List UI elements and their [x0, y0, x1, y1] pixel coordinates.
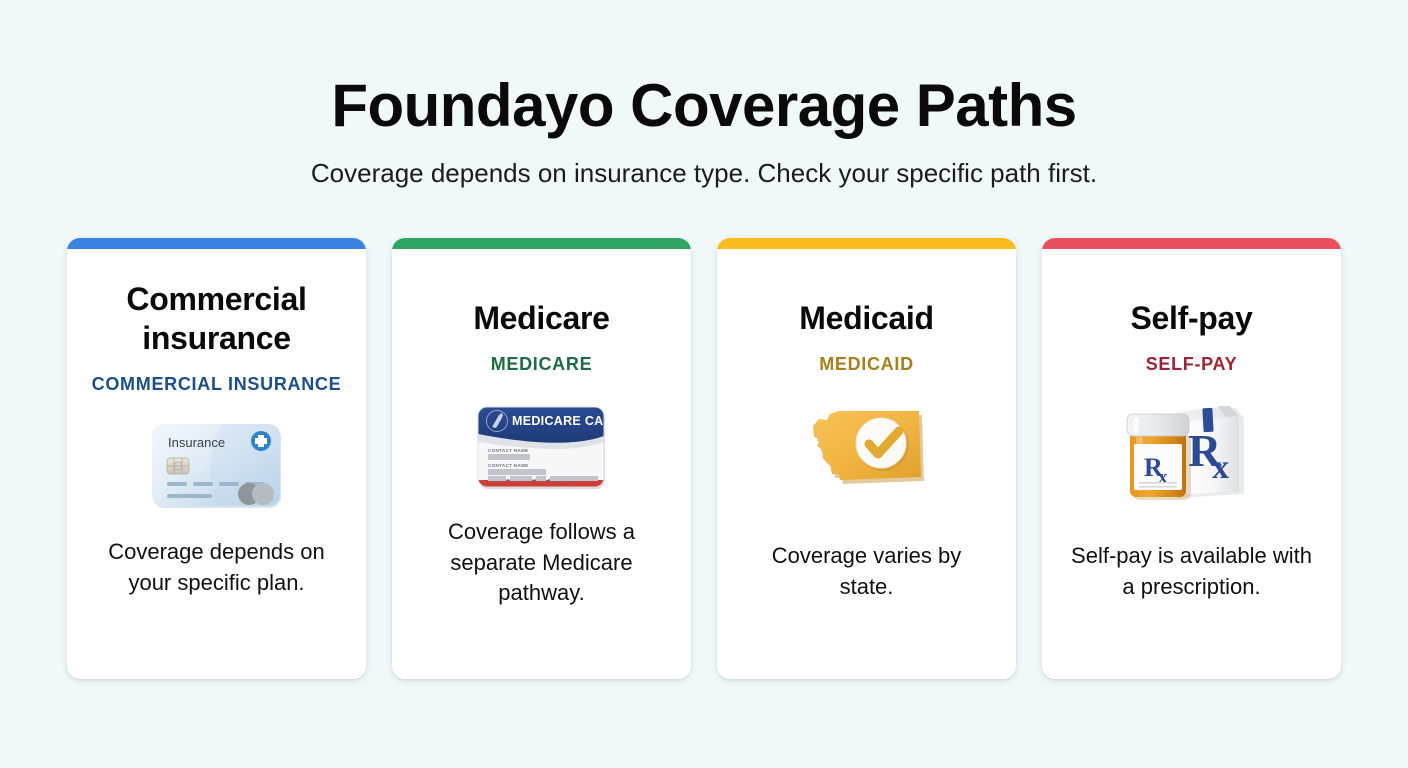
svg-text:CONTACT NAME: CONTACT NAME [488, 448, 529, 453]
card-eyebrow-label: MEDICARE [491, 354, 593, 375]
card-eyebrow-label: MEDICAID [819, 354, 914, 375]
card-body: Medicare MEDICARE [392, 238, 691, 679]
coverage-card-grid: Commercial insurance COMMERCIAL INSURANC… [67, 238, 1341, 679]
coverage-card-medicaid[interactable]: Medicaid MEDICAID [717, 238, 1016, 679]
svg-text:Insurance: Insurance [168, 435, 225, 450]
card-description: Coverage depends on your specific plan. [83, 537, 350, 598]
coverage-card-medicare[interactable]: Medicare MEDICARE [392, 238, 691, 679]
svg-text:CONTACT NAME: CONTACT NAME [488, 463, 529, 468]
card-icon-container: R x R x [1118, 381, 1266, 513]
card-title: Self-pay [1130, 299, 1252, 338]
medicare-card-icon: MEDICARE CARD CONTACT NAME CONTACT NAME … [472, 396, 612, 498]
coverage-card-self-pay[interactable]: Self-pay SELF-PAY [1042, 238, 1341, 679]
state-map-check-icon [797, 401, 937, 493]
card-body: Medicaid MEDICAID [717, 238, 1016, 679]
page-title: Foundayo Coverage Paths [0, 74, 1408, 137]
card-eyebrow-label: SELF-PAY [1146, 354, 1238, 375]
card-accent-bar [1042, 238, 1341, 249]
coverage-paths-page: Foundayo Coverage Paths Coverage depends… [0, 0, 1408, 768]
card-description: Self-pay is available with a prescriptio… [1058, 541, 1325, 602]
card-icon-container: MEDICARE CARD CONTACT NAME CONTACT NAME … [472, 381, 612, 513]
card-body: Commercial insurance COMMERCIAL INSURANC… [67, 238, 366, 679]
page-header: Foundayo Coverage Paths Coverage depends… [0, 0, 1408, 189]
card-title: Commercial insurance [83, 280, 350, 358]
card-eyebrow-label: COMMERCIAL INSURANCE [92, 374, 342, 395]
insurance-card-icon: Insurance [144, 415, 290, 519]
card-description: Coverage follows a separate Medicare pat… [408, 517, 675, 608]
prescription-rx-icon: R x R x [1118, 386, 1266, 508]
card-body: Self-pay SELF-PAY [1042, 238, 1341, 679]
page-subtitle: Coverage depends on insurance type. Chec… [0, 158, 1408, 189]
card-description: Coverage varies by state. [733, 541, 1000, 602]
card-accent-bar [67, 238, 366, 249]
card-title: Medicare [473, 299, 609, 338]
svg-text:x: x [1158, 467, 1168, 488]
coverage-card-commercial-insurance[interactable]: Commercial insurance COMMERCIAL INSURANC… [67, 238, 366, 679]
card-accent-bar [392, 238, 691, 249]
card-icon-container [797, 381, 937, 513]
card-icon-container: Insurance [144, 401, 290, 533]
svg-text:x: x [1212, 449, 1229, 486]
card-accent-bar [717, 238, 1016, 249]
card-title: Medicaid [799, 299, 934, 338]
svg-text:MEDICARE CARD: MEDICARE CARD [512, 414, 612, 428]
